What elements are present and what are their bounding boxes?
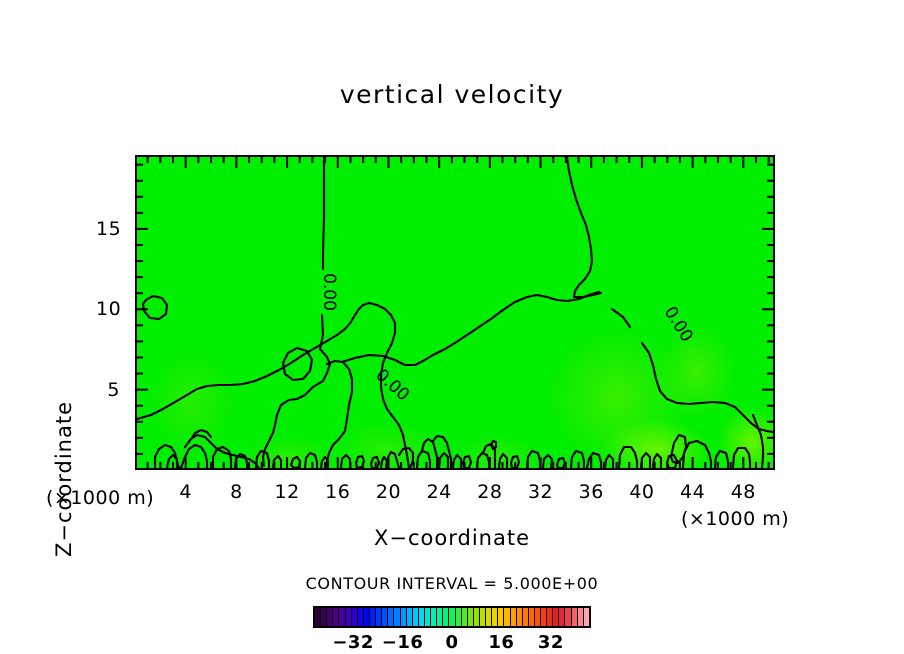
x-tick-label-16: 16: [325, 481, 350, 503]
x-tick-label-20: 20: [376, 481, 401, 503]
x-tick-label-36: 36: [579, 481, 604, 503]
contour-interval-caption: CONTOUR INTERVAL = 5.000E+00: [0, 574, 904, 593]
colorbar-cell: [584, 608, 589, 626]
colorbar-gradient: [313, 606, 591, 628]
colorbar-tick-0: 0: [445, 632, 458, 653]
figure-root: vertical velocity: [0, 0, 904, 654]
colorbar-tick-16: 16: [488, 632, 514, 653]
colorbar-tick--16: −16: [382, 632, 424, 653]
x-axis-label: X−coordinate: [0, 526, 904, 550]
x-tick-label-24: 24: [427, 481, 452, 503]
plot-area: 0.00 0.00 0.00: [135, 155, 775, 470]
y-tick-label-10: 10: [96, 298, 120, 320]
x-tick-label-44: 44: [680, 481, 705, 503]
plot-frame: 0.00 0.00 0.00: [135, 155, 775, 470]
x-unit-left: (×1000 m): [46, 487, 154, 509]
chart-title: vertical velocity: [0, 80, 904, 109]
x-tick-label-28: 28: [477, 481, 502, 503]
colorbar-tick-32: 32: [538, 632, 564, 653]
contour-field: 0.00 0.00 0.00: [137, 157, 773, 468]
x-tick-label-40: 40: [629, 481, 654, 503]
colorbar: [313, 606, 591, 628]
x-tick-label-8: 8: [230, 481, 243, 503]
contour-label-0: 0.00: [319, 273, 339, 311]
x-tick-label-32: 32: [528, 481, 553, 503]
x-tick-label-4: 4: [179, 481, 192, 503]
x-tick-label-12: 12: [274, 481, 299, 503]
colorbar-tick--32: −32: [332, 632, 374, 653]
y-tick-label-5: 5: [96, 379, 120, 401]
y-tick-label-15: 15: [96, 218, 120, 240]
x-tick-label-48: 48: [731, 481, 756, 503]
